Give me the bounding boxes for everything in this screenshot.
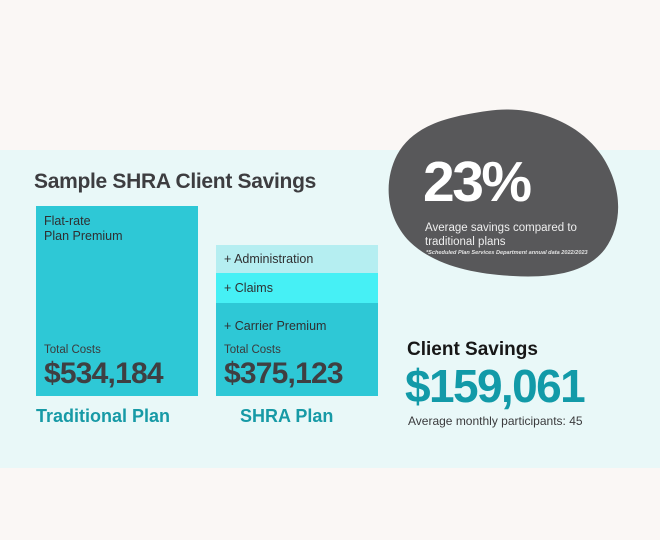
segment-claims: + Claims	[216, 273, 378, 303]
page-title: Sample SHRA Client Savings	[34, 170, 316, 194]
savings-percent-footnote: *Scheduled Plan Services Department annu…	[426, 250, 621, 256]
bar-traditional-plan: Flat-rate Plan Premium Total Costs $534,…	[36, 206, 198, 396]
client-savings-amount: $159,061	[405, 360, 584, 412]
savings-percent-subtitle: Average savings compared to traditional …	[425, 221, 605, 249]
bar-shra-plan: + Administration + Claims + Carrier Prem…	[216, 245, 378, 396]
total-costs-value: $534,184	[44, 357, 163, 390]
segment-label-line2: Plan Premium	[44, 229, 123, 244]
infographic-canvas: Sample SHRA Client Savings Flat-rate Pla…	[0, 0, 660, 540]
total-costs-label: Total Costs	[224, 343, 343, 357]
client-savings-title: Client Savings	[407, 339, 538, 361]
segment-label-flat-rate-premium: Flat-rate Plan Premium	[44, 214, 123, 244]
bar-shra-totals: Total Costs $375,123	[224, 343, 343, 390]
segment-label-line1: Flat-rate	[44, 214, 123, 229]
blob-content: 23% Average savings compared to traditio…	[383, 108, 625, 278]
segment-label-carrier-premium: + Carrier Premium	[224, 319, 326, 333]
segment-label-administration: + Administration	[224, 252, 313, 266]
total-costs-label: Total Costs	[44, 343, 163, 357]
segment-label-claims: + Claims	[224, 281, 273, 295]
total-costs-value: $375,123	[224, 357, 343, 390]
savings-percent-blob: 23% Average savings compared to traditio…	[383, 108, 625, 278]
bar-caption-traditional-plan: Traditional Plan	[36, 406, 170, 427]
segment-administration: + Administration	[216, 245, 378, 273]
savings-percent-value: 23%	[423, 154, 530, 211]
bar-caption-shra-plan: SHRA Plan	[240, 406, 333, 427]
client-savings-note: Average monthly participants: 45	[408, 414, 583, 428]
bar-traditional-totals: Total Costs $534,184	[44, 343, 163, 390]
